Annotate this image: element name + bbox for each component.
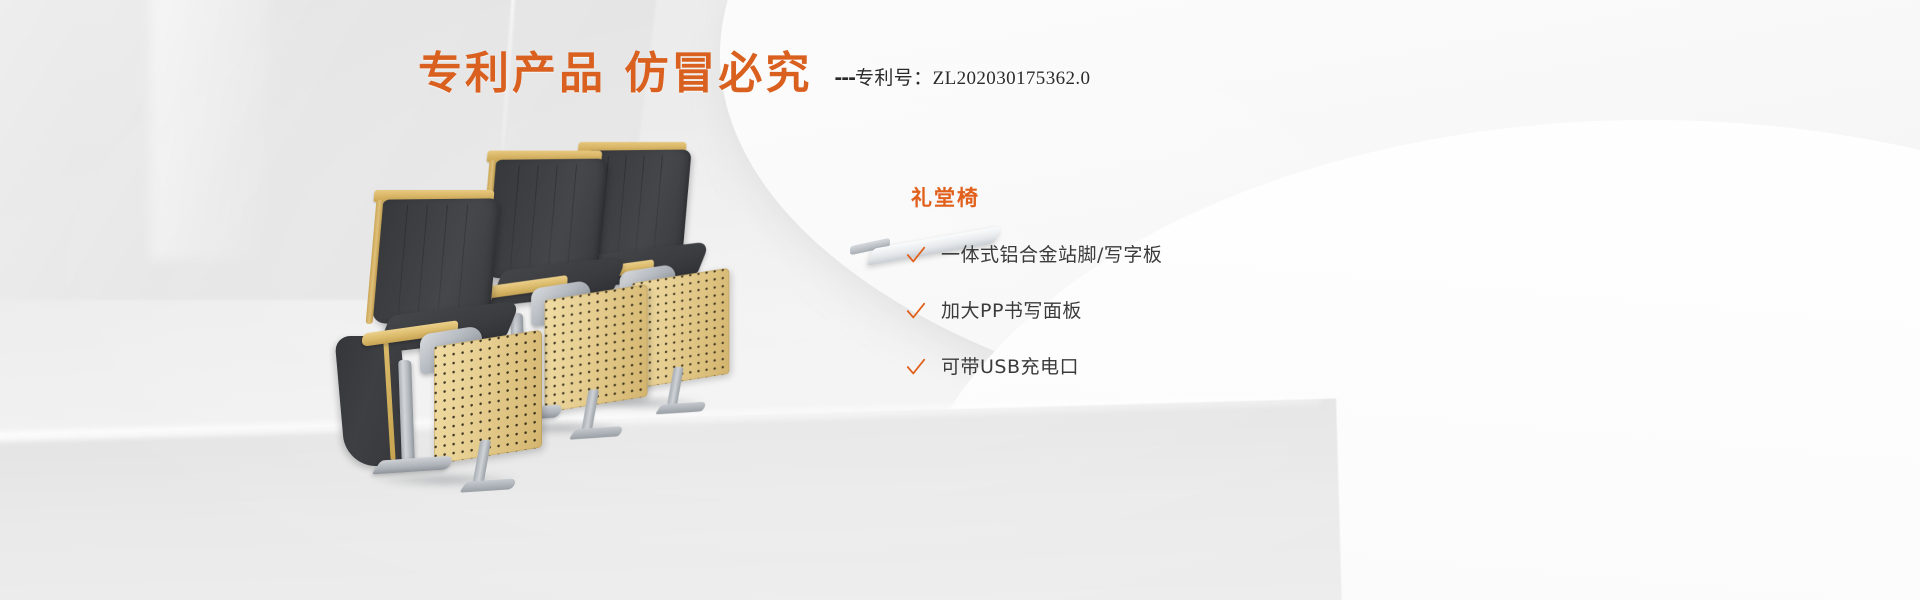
check-icon [905,356,927,378]
product-category-title: 礼堂椅 [911,182,1365,212]
feature-list-item: 一体式铝合金站脚/写字板 [905,244,1365,266]
chair-unit-1 [356,190,546,470]
product-image-auditorium-chairs [330,130,770,490]
feature-list-item: 加大PP书写面板 [905,300,1365,322]
feature-label: 可带USB充电口 [941,358,1079,377]
patent-number-text: ---专利号：ZL202030175362.0 [834,63,1090,90]
check-icon [905,300,927,322]
product-banner: 专利产品 仿冒必究 ---专利号：ZL202030175362.0 [0,0,1920,600]
headline-row: 专利产品 仿冒必究 ---专利号：ZL202030175362.0 [418,52,1090,96]
feature-list-item: 可带USB充电口 [905,356,1365,378]
feature-label: 一体式铝合金站脚/写字板 [941,246,1162,265]
patent-dash-prefix: --- [834,67,855,89]
patent-number-value: 专利号：ZL202030175362.0 [855,68,1090,89]
check-icon [905,244,927,266]
aluminium-leg [398,360,415,464]
feature-label: 加大PP书写面板 [941,302,1082,321]
page-title: 专利产品 仿冒必究 [418,52,812,96]
feature-panel: 礼堂椅 一体式铝合金站脚/写字板 加大PP书写面板 可带USB充电口 [905,182,1365,378]
